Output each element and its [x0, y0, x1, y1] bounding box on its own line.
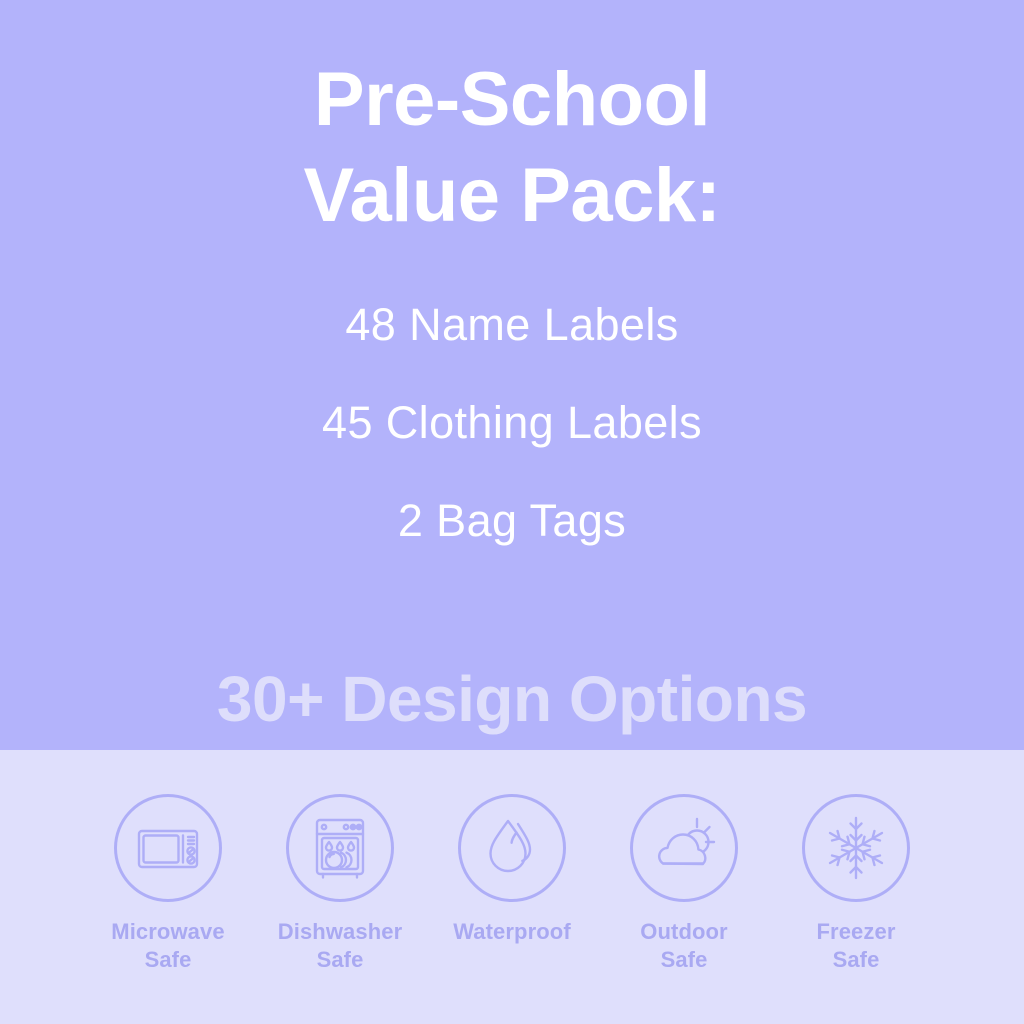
feature-badges-bar: Microwave Safe [0, 750, 1024, 1024]
cloud-sun-icon [630, 794, 738, 902]
feature-label-dishwasher: Dishwasher Safe [278, 918, 403, 974]
microwave-icon [114, 794, 222, 902]
feature-label-line-1: Dishwasher [278, 919, 403, 944]
feature-label-line-1: Freezer [817, 919, 896, 944]
feature-label-line-1: Outdoor [640, 919, 727, 944]
list-item: 2 Bag Tags [0, 472, 1024, 570]
feature-label-freezer: Freezer Safe [817, 918, 896, 974]
headline-line-2: Value Pack: [0, 148, 1024, 244]
feature-label-waterproof: Waterproof [453, 918, 571, 946]
feature-label-line-1: Microwave [111, 919, 224, 944]
waterdrop-icon [458, 794, 566, 902]
feature-label-line-2: Safe [317, 947, 364, 972]
design-options-headline: 30+ Design Options [0, 660, 1024, 738]
feature-item-outdoor: Outdoor Safe [598, 794, 770, 974]
pack-contents-list: 48 Name Labels 45 Clothing Labels 2 Bag … [0, 276, 1024, 570]
feature-item-waterproof: Waterproof [426, 794, 598, 946]
upper-panel: Pre-School Value Pack: 48 Name Labels 45… [0, 0, 1024, 750]
feature-label-line-1: Waterproof [453, 919, 571, 944]
promo-card: Pre-School Value Pack: 48 Name Labels 45… [0, 0, 1024, 1024]
snowflake-icon [802, 794, 910, 902]
list-item: 48 Name Labels [0, 276, 1024, 374]
list-item: 45 Clothing Labels [0, 374, 1024, 472]
feature-label-line-2: Safe [661, 947, 708, 972]
feature-label-outdoor: Outdoor Safe [640, 918, 727, 974]
dishwasher-icon [286, 794, 394, 902]
page-title: Pre-School Value Pack: [0, 52, 1024, 244]
headline-line-1: Pre-School [0, 52, 1024, 148]
feature-item-microwave: Microwave Safe [82, 794, 254, 974]
feature-label-microwave: Microwave Safe [111, 918, 224, 974]
feature-item-dishwasher: Dishwasher Safe [254, 794, 426, 974]
feature-label-line-2: Safe [145, 947, 192, 972]
feature-label-line-2: Safe [833, 947, 880, 972]
feature-item-freezer: Freezer Safe [770, 794, 942, 974]
